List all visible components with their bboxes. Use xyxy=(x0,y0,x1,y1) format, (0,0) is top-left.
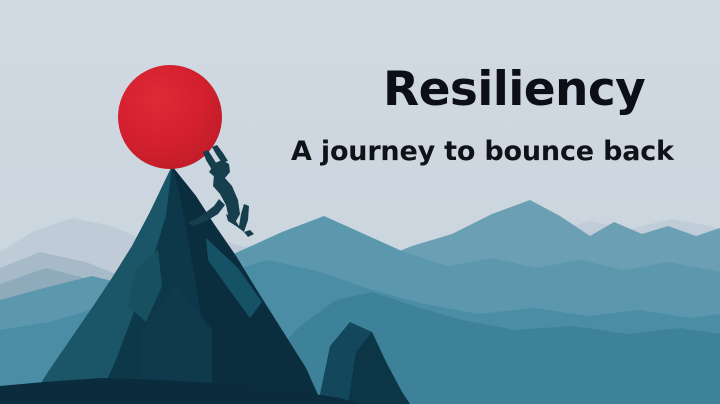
text-layer: Resiliency A journey to bounce back xyxy=(0,0,720,404)
page-subtitle: A journey to bounce back xyxy=(291,136,674,168)
page-title: Resiliency xyxy=(383,64,645,116)
slide-canvas: Resiliency A journey to bounce back xyxy=(0,0,720,404)
